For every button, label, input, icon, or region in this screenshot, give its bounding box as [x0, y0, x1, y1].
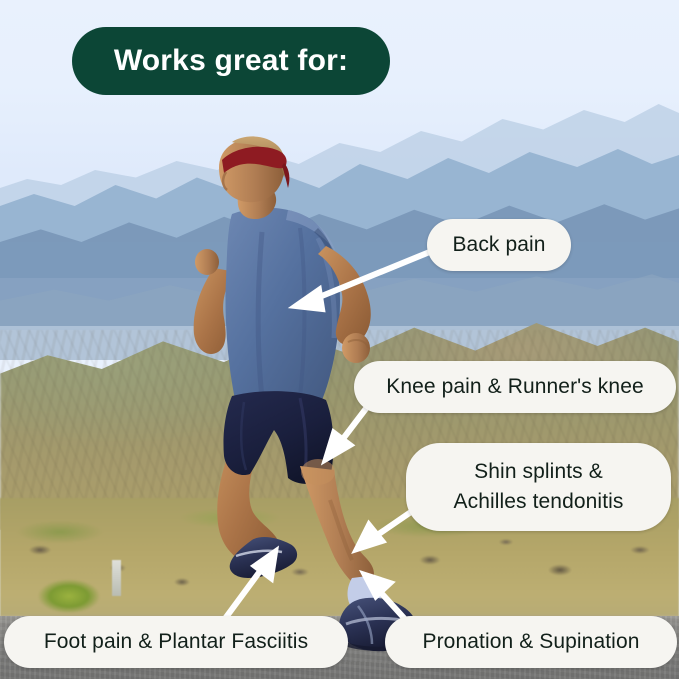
callout-knee-pain-label: Knee pain & Runner's knee [386, 375, 644, 399]
callout-foot-pain: Foot pain & Plantar Fasciitis [4, 616, 348, 668]
runner-head [219, 136, 289, 219]
callout-knee-pain: Knee pain & Runner's knee [354, 361, 676, 413]
infographic-canvas: Works great for: Back pain Knee pain & R… [0, 0, 679, 679]
callout-back-pain: Back pain [427, 219, 571, 271]
callout-foot-pain-label: Foot pain & Plantar Fasciitis [44, 630, 308, 654]
header-banner-label: Works great for: [114, 44, 348, 78]
callout-shin-splints-line-1: Shin splints & [474, 457, 603, 487]
callout-shin-splints-line-2: Achilles tendonitis [454, 487, 624, 517]
runner-torso [225, 208, 342, 411]
callout-shin-splints: Shin splints & Achilles tendonitis [406, 443, 671, 531]
callout-pronation-supination: Pronation & Supination [385, 616, 677, 668]
runner-figure [0, 0, 679, 679]
callout-pronation-label: Pronation & Supination [422, 630, 639, 654]
header-banner: Works great for: [72, 27, 390, 95]
callout-back-pain-label: Back pain [452, 233, 545, 257]
